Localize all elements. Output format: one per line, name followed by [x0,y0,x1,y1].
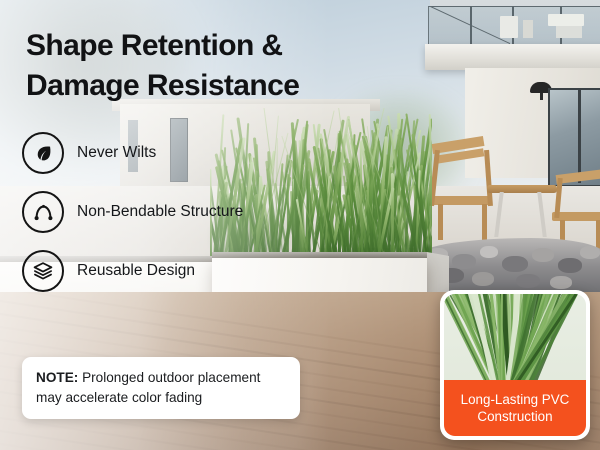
feature-label: Non-Bendable Structure [77,202,243,221]
note-prefix: NOTE: [36,370,78,385]
page-title: Shape Retention & Damage Resistance [26,26,386,105]
balcony-slab [425,44,600,70]
badge-line-1: Long-Lasting PVC [461,391,570,408]
arch-icon [22,191,64,233]
balcony-furniture [548,14,584,26]
feature-label: Never Wilts [77,143,156,162]
feature-item-non-bendable: Non-Bendable Structure [22,191,322,233]
headline-line-1: Shape Retention & [26,26,386,66]
railing-post [470,6,472,46]
note-callout: NOTE: Prolonged outdoor placement may ac… [22,357,300,419]
door-mullion [578,88,581,183]
balcony-furniture [500,16,518,38]
feature-list: Never Wilts Non-Bendable Structure [22,132,322,309]
feature-item-never-wilts: Never Wilts [22,132,322,174]
balcony-furniture [523,20,533,38]
inset-product-card: Long-Lasting PVC Construction [440,290,590,440]
feature-item-reusable: Reusable Design [22,250,322,292]
leaf-icon [22,132,64,174]
feature-label: Reusable Design [77,261,195,280]
headline-line-2: Damage Resistance [26,66,386,106]
status-badge: Long-Lasting PVC Construction [444,380,586,436]
layers-icon [22,250,64,292]
badge-line-2: Construction [461,408,570,425]
patio-table [487,185,557,193]
balcony-furniture [556,26,582,38]
promo-banner: Shape Retention & Damage Resistance Neve… [0,0,600,450]
